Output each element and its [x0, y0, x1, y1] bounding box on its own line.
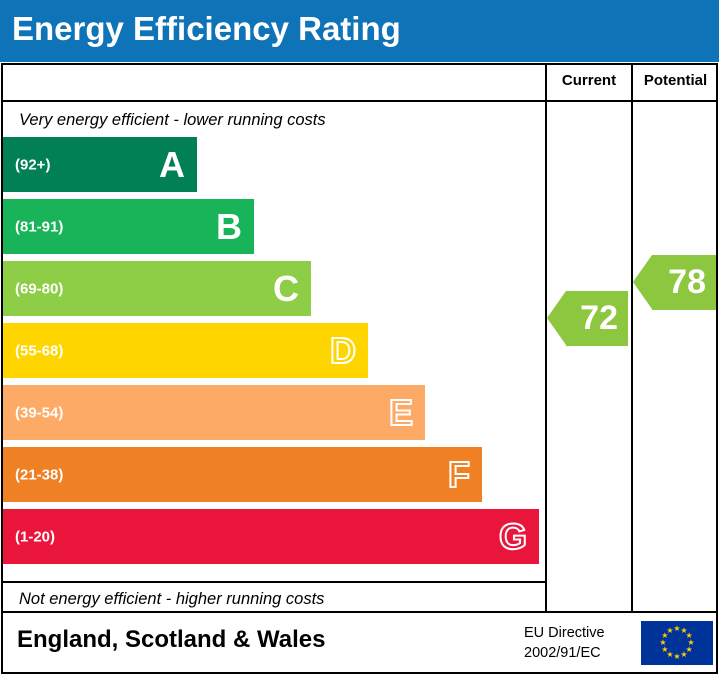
band-c: (69-80) C — [3, 261, 311, 316]
band-g-letter: G — [499, 519, 527, 555]
column-divider-potential — [631, 65, 633, 611]
current-rating-value: 72 — [580, 299, 618, 338]
table-header-rule — [3, 100, 716, 102]
eu-directive-text: EU Directive 2002/91/EC — [524, 624, 605, 663]
band-d: (55-68) D — [3, 323, 368, 378]
column-header-current: Current — [547, 72, 631, 89]
eu-star-icon: ★ — [680, 651, 688, 659]
band-b: (81-91) B — [3, 199, 254, 254]
region-label: England, Scotland & Wales — [17, 626, 325, 654]
page-title: Energy Efficiency Rating — [12, 10, 401, 48]
potential-rating-arrow: 78 — [652, 255, 716, 310]
band-g: (1-20) G — [3, 509, 539, 564]
band-e-range: (39-54) — [15, 404, 63, 421]
band-f: (21-38) F — [3, 447, 482, 502]
chart-header: Energy Efficiency Rating — [0, 0, 719, 62]
band-c-range: (69-80) — [15, 280, 63, 297]
band-e-letter: E — [389, 395, 413, 431]
potential-arrow-tip — [633, 255, 652, 309]
current-rating-arrow: 72 — [566, 291, 628, 346]
band-b-range: (81-91) — [15, 218, 63, 235]
rating-bands: (92+) A (81-91) B (69-80) C (55-68) D (3… — [3, 137, 545, 581]
chart-footer: England, Scotland & Wales EU Directive 2… — [1, 613, 718, 674]
band-a-letter: A — [159, 147, 185, 183]
band-f-range: (21-38) — [15, 466, 63, 483]
band-a: (92+) A — [3, 137, 197, 192]
eu-directive-line2: 2002/91/EC — [524, 644, 605, 664]
band-d-letter: D — [330, 333, 356, 369]
eu-directive-line1: EU Directive — [524, 624, 605, 644]
band-b-letter: B — [216, 209, 242, 245]
band-g-range: (1-20) — [15, 528, 55, 545]
caption-top: Very energy efficient - lower running co… — [19, 111, 326, 130]
band-f-letter: F — [448, 457, 470, 493]
potential-rating-value: 78 — [668, 263, 706, 302]
band-e: (39-54) E — [3, 385, 425, 440]
band-c-letter: C — [273, 271, 299, 307]
chart-frame: Current Potential Very energy efficient … — [1, 63, 718, 613]
caption-bottom: Not energy efficient - higher running co… — [19, 590, 324, 609]
band-d-range: (55-68) — [15, 342, 63, 359]
eu-star-icon: ★ — [661, 646, 669, 654]
eu-star-icon: ★ — [673, 653, 681, 661]
eu-star-icon: ★ — [659, 639, 667, 647]
band-a-range: (92+) — [15, 156, 50, 173]
eu-star-icon: ★ — [666, 627, 674, 635]
column-header-potential: Potential — [633, 72, 718, 89]
epc-certificate: Energy Efficiency Rating Current Potenti… — [0, 0, 719, 675]
eu-flag-icon: ★★★★★★★★★★★★ — [641, 621, 713, 665]
current-arrow-tip — [547, 291, 566, 345]
bottom-rule — [3, 581, 545, 583]
